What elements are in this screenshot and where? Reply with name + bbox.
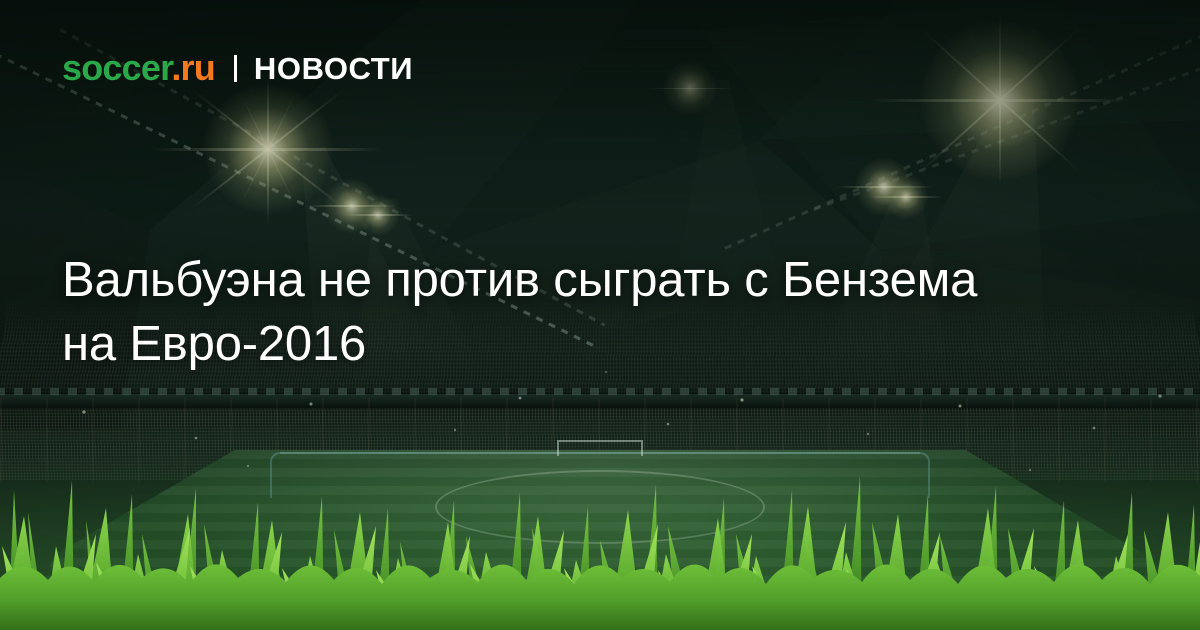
- logo-domain: .ru: [171, 47, 215, 88]
- soccer-ru-logo[interactable]: soccer.ru: [62, 50, 215, 86]
- foreground-grass: [0, 450, 1200, 630]
- article-headline: Вальбуэна не против сыграть с Бензема на…: [62, 248, 1022, 376]
- news-cover-card: soccer.ru НОВОСТИ Вальбуэна не против сы…: [0, 0, 1200, 630]
- section-label-news: НОВОСТИ: [254, 53, 413, 84]
- header-divider: [234, 55, 237, 82]
- site-header: soccer.ru НОВОСТИ: [62, 50, 413, 86]
- logo-name: soccer: [62, 47, 171, 88]
